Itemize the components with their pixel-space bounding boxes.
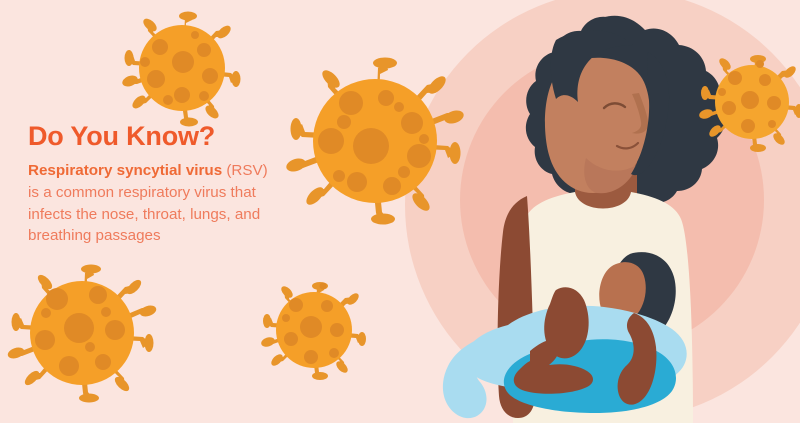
term-label: Respiratory syncytial virus	[28, 162, 222, 179]
page-title: Do You Know?	[28, 122, 280, 150]
description-paragraph: Respiratory syncytial virus (RSV) is a c…	[28, 160, 280, 246]
virus-top-center	[285, 58, 466, 225]
infographic-poster: Do You Know? Respiratory syncytial virus…	[0, 0, 800, 423]
description-text: is a common respiratory virus that infec…	[28, 184, 260, 244]
abbreviation-label: (RSV)	[222, 162, 268, 179]
text-block: Do You Know? Respiratory syncytial virus…	[28, 122, 280, 247]
virus-top-right	[698, 55, 800, 152]
virus-bottom-left	[6, 265, 157, 403]
virus-top-left	[121, 12, 241, 127]
virus-bottom-center	[260, 282, 366, 380]
